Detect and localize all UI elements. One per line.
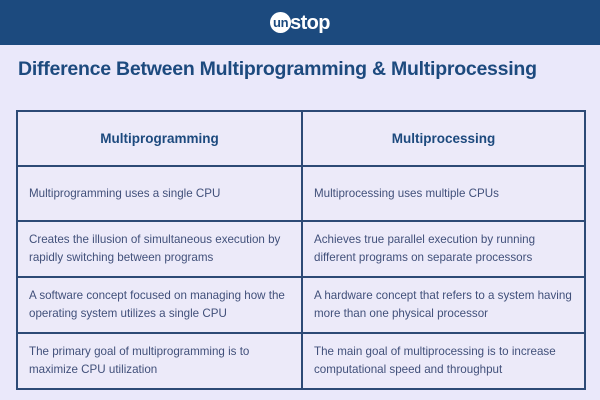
- table-row: Multiprogramming uses a single CPU Multi…: [17, 166, 585, 221]
- cell-multiprocessing-3: A hardware concept that refers to a syst…: [302, 277, 585, 333]
- column-header-multiprogramming: Multiprogramming: [17, 111, 302, 166]
- column-header-multiprocessing: Multiprocessing: [302, 111, 585, 166]
- cell-multiprocessing-1: Multiprocessing uses multiple CPUs: [302, 166, 585, 221]
- table-row: A software concept focused on managing h…: [17, 277, 585, 333]
- table-row: Creates the illusion of simultaneous exe…: [17, 221, 585, 277]
- table-row: The primary goal of multiprogramming is …: [17, 333, 585, 389]
- cell-multiprogramming-4: The primary goal of multiprogramming is …: [17, 333, 302, 389]
- unstop-logo-wordmark: stop: [290, 13, 330, 33]
- unstop-logo-circle-icon: un: [270, 12, 291, 33]
- cell-multiprogramming-3: A software concept focused on managing h…: [17, 277, 302, 333]
- comparison-table: Multiprogramming Multiprocessing Multipr…: [16, 110, 586, 390]
- cell-multiprocessing-4: The main goal of multiprocessing is to i…: [302, 333, 585, 389]
- brand-header-bar: un stop: [0, 0, 600, 45]
- table-header: Multiprogramming Multiprocessing: [17, 111, 585, 166]
- table-body: Multiprogramming uses a single CPU Multi…: [17, 166, 585, 389]
- cell-multiprogramming-1: Multiprogramming uses a single CPU: [17, 166, 302, 221]
- infographic-page: un stop Difference Between Multiprogramm…: [0, 0, 600, 400]
- page-title: Difference Between Multiprogramming & Mu…: [18, 57, 584, 81]
- unstop-logo[interactable]: un stop: [270, 11, 330, 35]
- table-header-row: Multiprogramming Multiprocessing: [17, 111, 585, 166]
- cell-multiprogramming-2: Creates the illusion of simultaneous exe…: [17, 221, 302, 277]
- cell-multiprocessing-2: Achieves true parallel execution by runn…: [302, 221, 585, 277]
